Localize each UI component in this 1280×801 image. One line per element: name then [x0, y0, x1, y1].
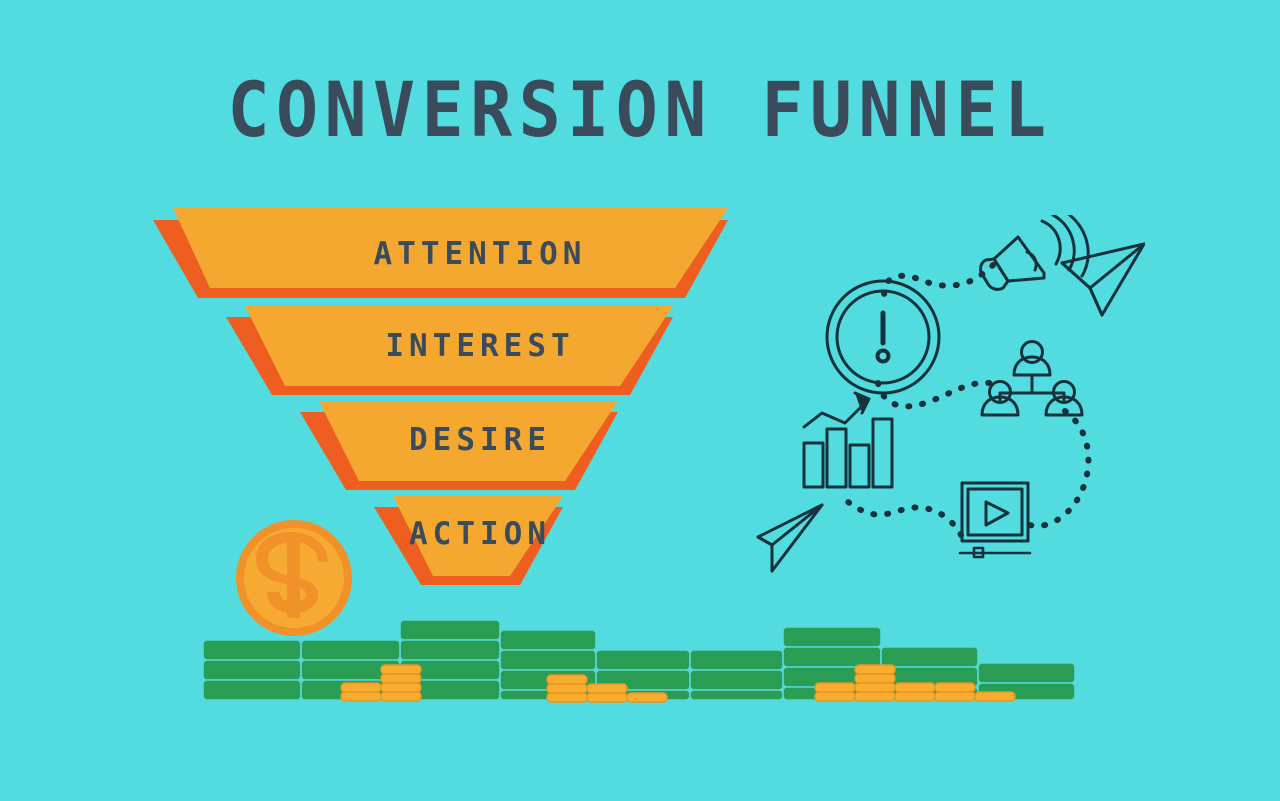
dotted-path-bottom [843, 498, 961, 535]
money-stacks [195, 605, 1085, 720]
bill-stack-left [203, 640, 301, 700]
marketing-icon-cluster [750, 215, 1145, 580]
money-stack-shapes [195, 605, 1085, 720]
funnel-stage-label-interest: INTEREST [330, 328, 630, 364]
megaphone-icon [981, 215, 1089, 289]
bill-stack-mid-3 [690, 650, 783, 700]
people-network-icon [982, 342, 1082, 416]
illustration-canvas: CONVERSION FUNNEL [0, 0, 1280, 801]
funnel-stage-label-action: ACTION [330, 516, 630, 552]
dotted-path-lower [1030, 411, 1088, 526]
video-player-icon [960, 483, 1030, 557]
page-title: CONVERSION FUNNEL [51, 72, 1229, 148]
funnel-stage-label-attention: ATTENTION [330, 236, 630, 272]
funnel-stage-label-desire: DESIRE [330, 422, 630, 458]
paper-plane-icon-bottom [758, 505, 822, 571]
exclamation-circle-icon [827, 281, 939, 393]
marketing-icons-svg [750, 215, 1145, 580]
growth-chart-icon [804, 393, 892, 487]
dotted-path-middle [878, 383, 990, 407]
